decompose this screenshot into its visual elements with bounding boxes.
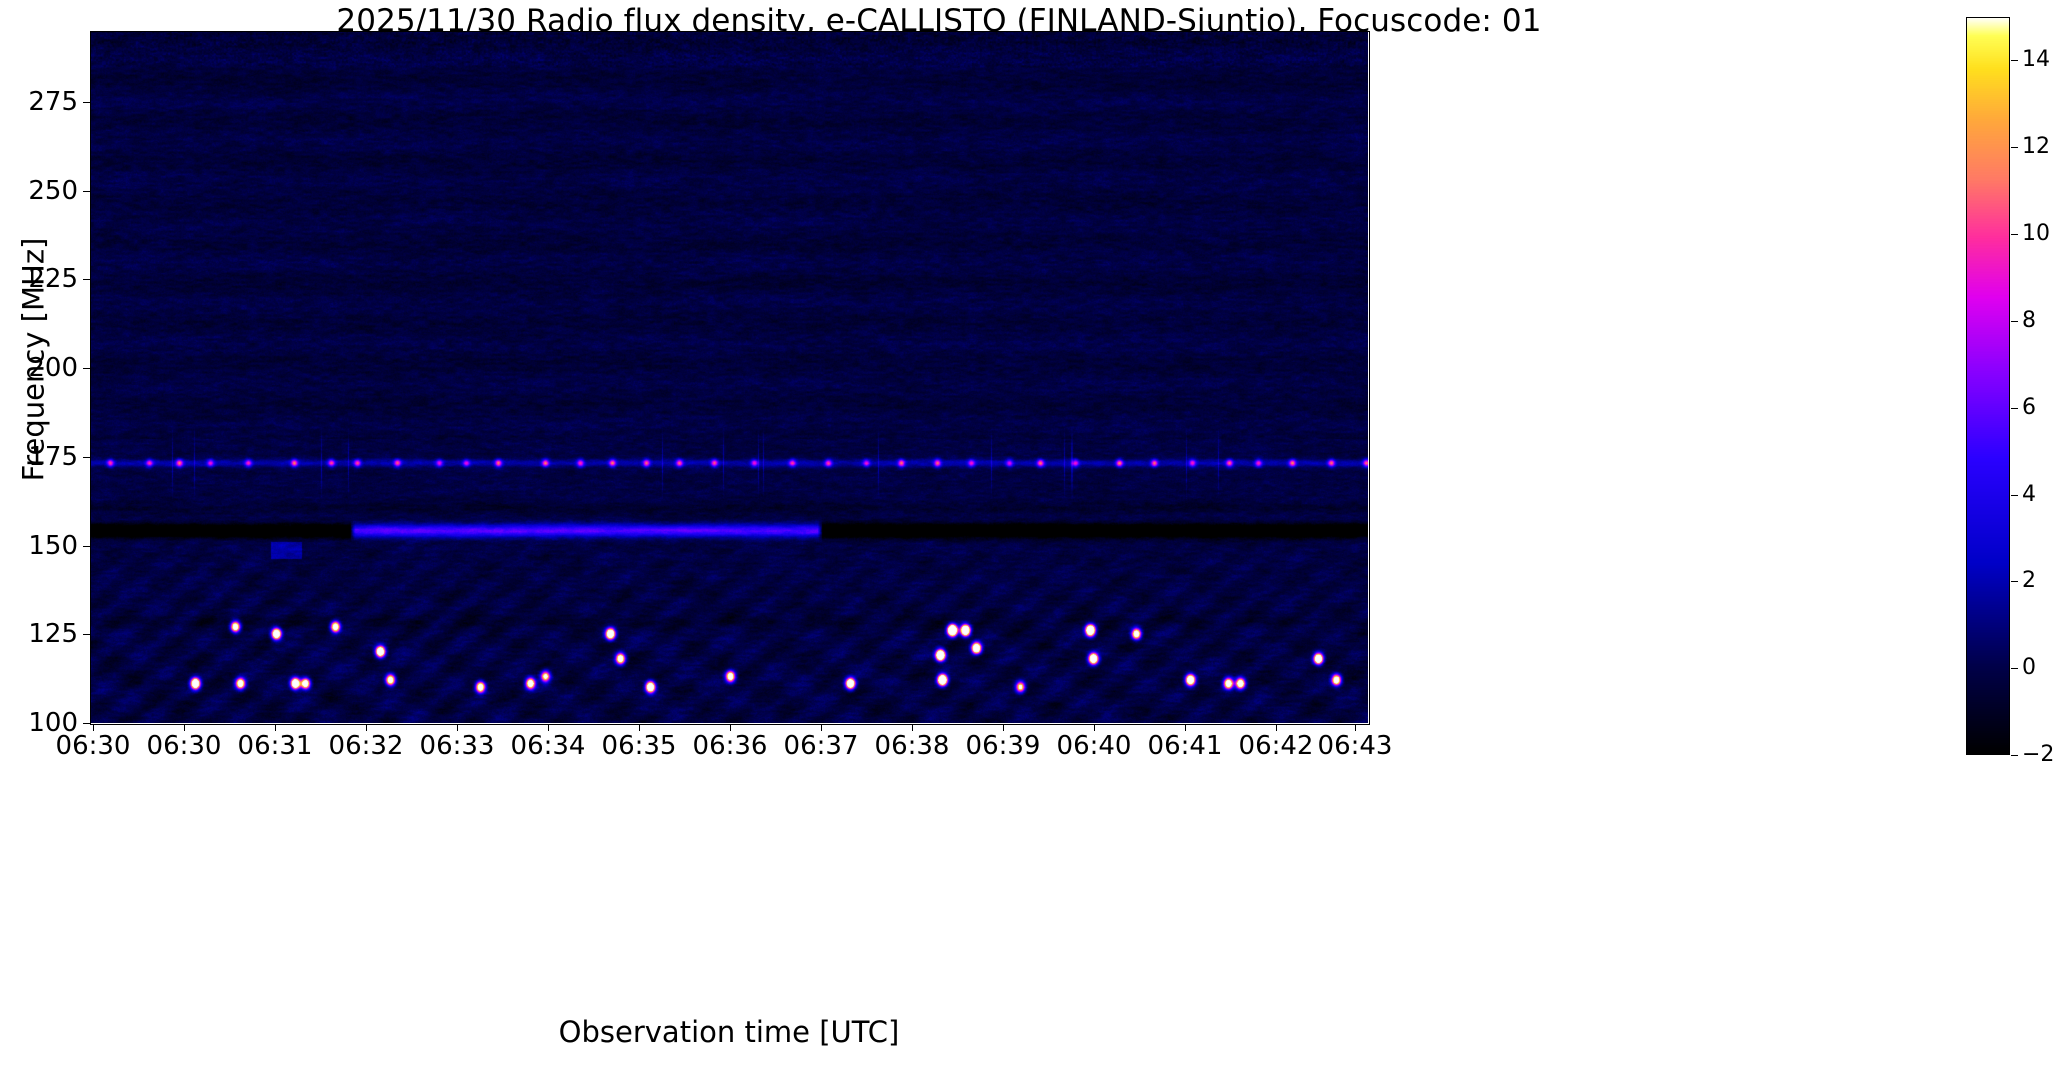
x-axis-tick-mark (821, 724, 822, 731)
x-axis-tick-mark (912, 724, 913, 731)
colorbar-tick-label: 4 (2022, 484, 2036, 506)
spectrogram-canvas[interactable] (90, 31, 1368, 723)
spectrogram-figure: 2025/11/30 Radio flux density, e-CALLIST… (0, 0, 2066, 1067)
x-axis-tick-mark (1094, 724, 1095, 731)
y-axis-tick-mark (83, 191, 90, 192)
y-axis-label: Frequency [MHz] (20, 40, 49, 680)
x-axis-tick-mark (1276, 724, 1277, 731)
colorbar-canvas (1966, 17, 2010, 755)
spectrogram-axes[interactable] (90, 31, 1368, 723)
x-axis-tick-mark (457, 724, 458, 731)
colorbar-tick-label: 6 (2022, 397, 2036, 419)
x-axis-tick-mark (639, 724, 640, 731)
colorbar-tick-label: 0 (2022, 657, 2036, 679)
x-axis-tick-label: 06:43 (1295, 733, 1415, 759)
colorbar-tick-mark (2011, 234, 2018, 235)
x-axis-tick-mark (1185, 724, 1186, 731)
colorbar-tick-mark (2011, 321, 2018, 322)
x-axis-tick-mark (730, 724, 731, 731)
x-axis-tick-mark (1003, 724, 1004, 731)
x-axis-tick-mark (184, 724, 185, 731)
y-axis-tick-mark (83, 634, 90, 635)
colorbar-tick-label: 10 (2022, 223, 2050, 245)
colorbar-tick-label: 12 (2022, 136, 2050, 158)
colorbar[interactable] (1966, 17, 2010, 755)
x-axis-tick-mark (548, 724, 549, 731)
y-axis-tick-mark (83, 368, 90, 369)
colorbar-tick-mark (2011, 495, 2018, 496)
x-axis-tick-mark (93, 724, 94, 731)
y-axis-tick-mark (83, 457, 90, 458)
colorbar-tick-label: −2 (2022, 744, 2054, 766)
colorbar-tick-mark (2011, 60, 2018, 61)
y-axis-tick-mark (83, 723, 90, 724)
colorbar-tick-mark (2011, 581, 2018, 582)
colorbar-tick-mark (2011, 755, 2018, 756)
x-axis-tick-mark (275, 724, 276, 731)
colorbar-tick-mark (2011, 408, 2018, 409)
y-axis-tick-mark (83, 279, 90, 280)
colorbar-tick-label: 8 (2022, 310, 2036, 332)
x-axis-label: Observation time [UTC] (90, 1016, 1368, 1048)
colorbar-tick-label: 14 (2022, 49, 2050, 71)
colorbar-tick-mark (2011, 668, 2018, 669)
y-axis-tick-mark (83, 102, 90, 103)
x-axis-tick-mark (366, 724, 367, 731)
colorbar-tick-label: 2 (2022, 570, 2036, 592)
y-axis-tick-mark (83, 546, 90, 547)
x-axis-tick-mark (1355, 724, 1356, 731)
colorbar-tick-mark (2011, 147, 2018, 148)
